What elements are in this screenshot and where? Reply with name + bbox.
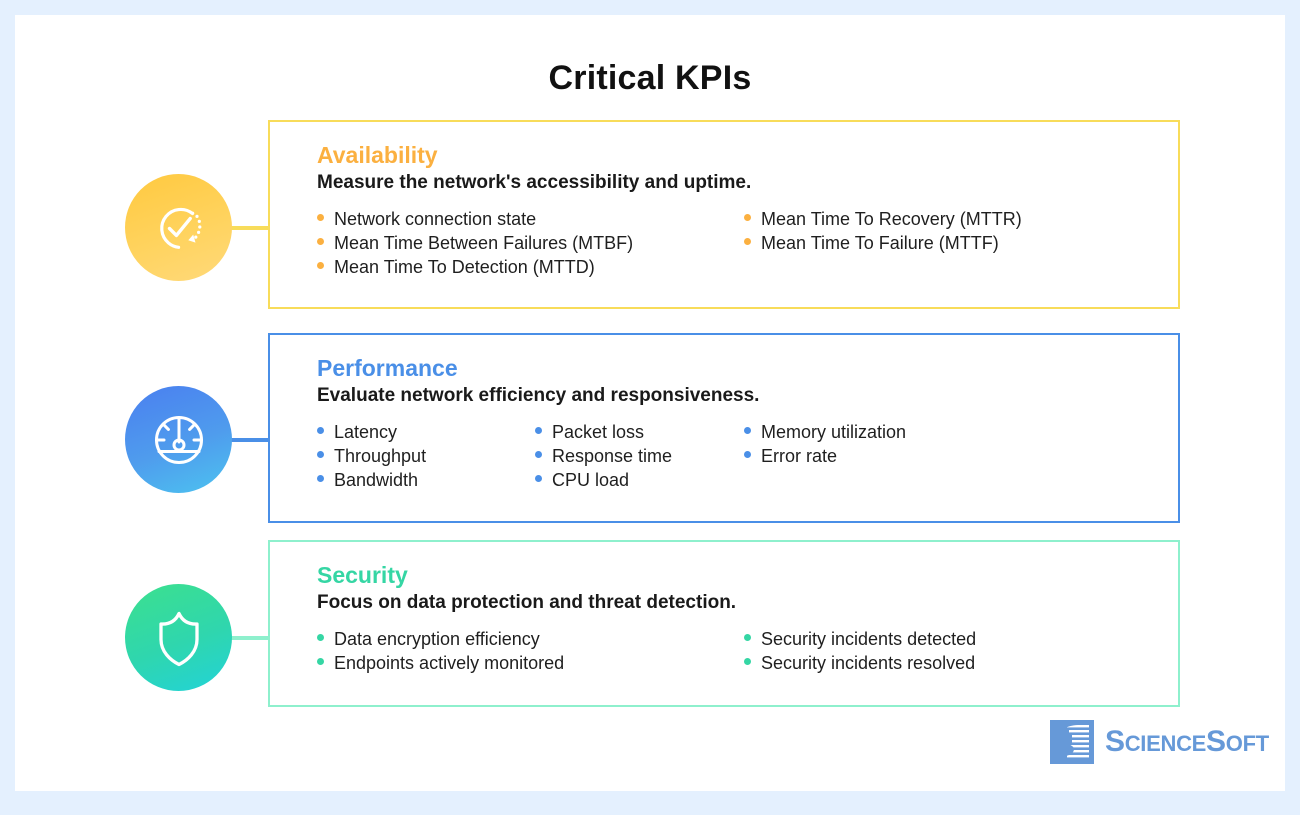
logo-text-s1: S <box>1105 725 1125 758</box>
kpi-item: Bandwidth <box>317 469 525 493</box>
kpi-column: Memory utilization Error rate <box>744 421 916 492</box>
bullet-icon <box>744 658 751 665</box>
bullet-icon <box>535 427 542 434</box>
kpi-item: Network connection state <box>317 208 734 232</box>
section-subtitle-availability: Measure the network's accessibility and … <box>317 171 1178 195</box>
kpi-column: Packet loss Response time CPU load <box>535 421 744 492</box>
bullet-icon <box>535 451 542 458</box>
kpi-item: Error rate <box>744 445 906 469</box>
kpi-item: Data encryption efficiency <box>317 628 734 652</box>
bullet-icon <box>535 475 542 482</box>
section-security: Security Focus on data protection and th… <box>268 540 1180 707</box>
logo-text-s2: S <box>1206 725 1226 758</box>
bullet-icon <box>317 658 324 665</box>
kpi-columns-availability: Network connection state Mean Time Betwe… <box>317 208 1178 279</box>
section-performance: Performance Evaluate network efficiency … <box>268 333 1180 523</box>
kpi-label: Mean Time To Detection (MTTD) <box>334 256 595 280</box>
kpi-item: Response time <box>535 445 734 469</box>
bullet-icon <box>317 238 324 245</box>
speedometer-icon <box>125 386 232 493</box>
kpi-label: Network connection state <box>334 208 536 232</box>
kpi-columns-performance: Latency Throughput Bandwidth Packet loss <box>317 421 1178 492</box>
section-heading-performance: Performance <box>317 355 1178 381</box>
kpi-item: Packet loss <box>535 421 734 445</box>
section-heading-security: Security <box>317 562 1178 588</box>
kpi-column: Security incidents detected Security inc… <box>744 628 986 676</box>
logo-text-of: OF <box>1226 731 1256 756</box>
kpi-item: Latency <box>317 421 525 445</box>
bullet-icon <box>317 262 324 269</box>
kpi-column: Mean Time To Recovery (MTTR) Mean Time T… <box>744 208 1032 279</box>
kpi-label: Mean Time To Recovery (MTTR) <box>761 208 1022 232</box>
logo-text-t: T <box>1256 731 1269 756</box>
bullet-icon <box>317 451 324 458</box>
kpi-label: Memory utilization <box>761 421 906 445</box>
kpi-label: Throughput <box>334 445 426 469</box>
bullet-icon <box>317 475 324 482</box>
kpi-item: Mean Time To Recovery (MTTR) <box>744 208 1022 232</box>
kpi-item: Throughput <box>317 445 525 469</box>
connector-line-security <box>227 636 270 640</box>
kpi-item: Mean Time Between Failures (MTBF) <box>317 232 734 256</box>
kpi-item: Mean Time To Detection (MTTD) <box>317 256 734 280</box>
kpi-label: Packet loss <box>552 421 644 445</box>
kpi-item: Memory utilization <box>744 421 906 445</box>
connector-line-performance <box>227 438 270 442</box>
bullet-icon <box>744 427 751 434</box>
connector-line-availability <box>227 226 270 230</box>
bullet-icon <box>317 634 324 641</box>
kpi-label: Mean Time To Failure (MTTF) <box>761 232 999 256</box>
kpi-label: Security incidents detected <box>761 628 976 652</box>
logo-text-cience: CIENCE <box>1125 731 1206 756</box>
kpi-item: Security incidents detected <box>744 628 976 652</box>
section-availability: Availability Measure the network's acces… <box>268 120 1180 309</box>
section-subtitle-security: Focus on data protection and threat dete… <box>317 591 1178 615</box>
bullet-icon <box>317 214 324 221</box>
kpi-item: Mean Time To Failure (MTTF) <box>744 232 1022 256</box>
kpi-label: CPU load <box>552 469 629 493</box>
bullet-icon <box>744 214 751 221</box>
check-clock-icon <box>125 174 232 281</box>
kpi-columns-security: Data encryption efficiency Endpoints act… <box>317 628 1178 676</box>
sciencesoft-logo-text: SCIENCESOFT <box>1105 727 1269 757</box>
kpi-label: Latency <box>334 421 397 445</box>
kpi-column: Data encryption efficiency Endpoints act… <box>317 628 744 676</box>
bullet-icon <box>317 427 324 434</box>
bullet-icon <box>744 238 751 245</box>
kpi-label: Security incidents resolved <box>761 652 975 676</box>
section-heading-availability: Availability <box>317 142 1178 168</box>
kpi-item: Endpoints actively monitored <box>317 652 734 676</box>
section-subtitle-performance: Evaluate network efficiency and responsi… <box>317 384 1178 408</box>
kpi-column: Network connection state Mean Time Betwe… <box>317 208 744 279</box>
kpi-label: Endpoints actively monitored <box>334 652 564 676</box>
kpi-item: CPU load <box>535 469 734 493</box>
kpi-label: Mean Time Between Failures (MTBF) <box>334 232 633 256</box>
sciencesoft-logo: SCIENCESOFT <box>1050 720 1269 764</box>
sciencesoft-logo-mark <box>1050 720 1094 764</box>
kpi-label: Error rate <box>761 445 837 469</box>
kpi-label: Response time <box>552 445 672 469</box>
bullet-icon <box>744 634 751 641</box>
kpi-label: Data encryption efficiency <box>334 628 540 652</box>
kpi-column: Latency Throughput Bandwidth <box>317 421 535 492</box>
kpi-label: Bandwidth <box>334 469 418 493</box>
kpi-item: Security incidents resolved <box>744 652 976 676</box>
bullet-icon <box>744 451 751 458</box>
page-card: Critical KPIs Availability Measure the n… <box>15 15 1285 791</box>
page-title: Critical KPIs <box>15 59 1285 98</box>
shield-icon <box>125 584 232 691</box>
